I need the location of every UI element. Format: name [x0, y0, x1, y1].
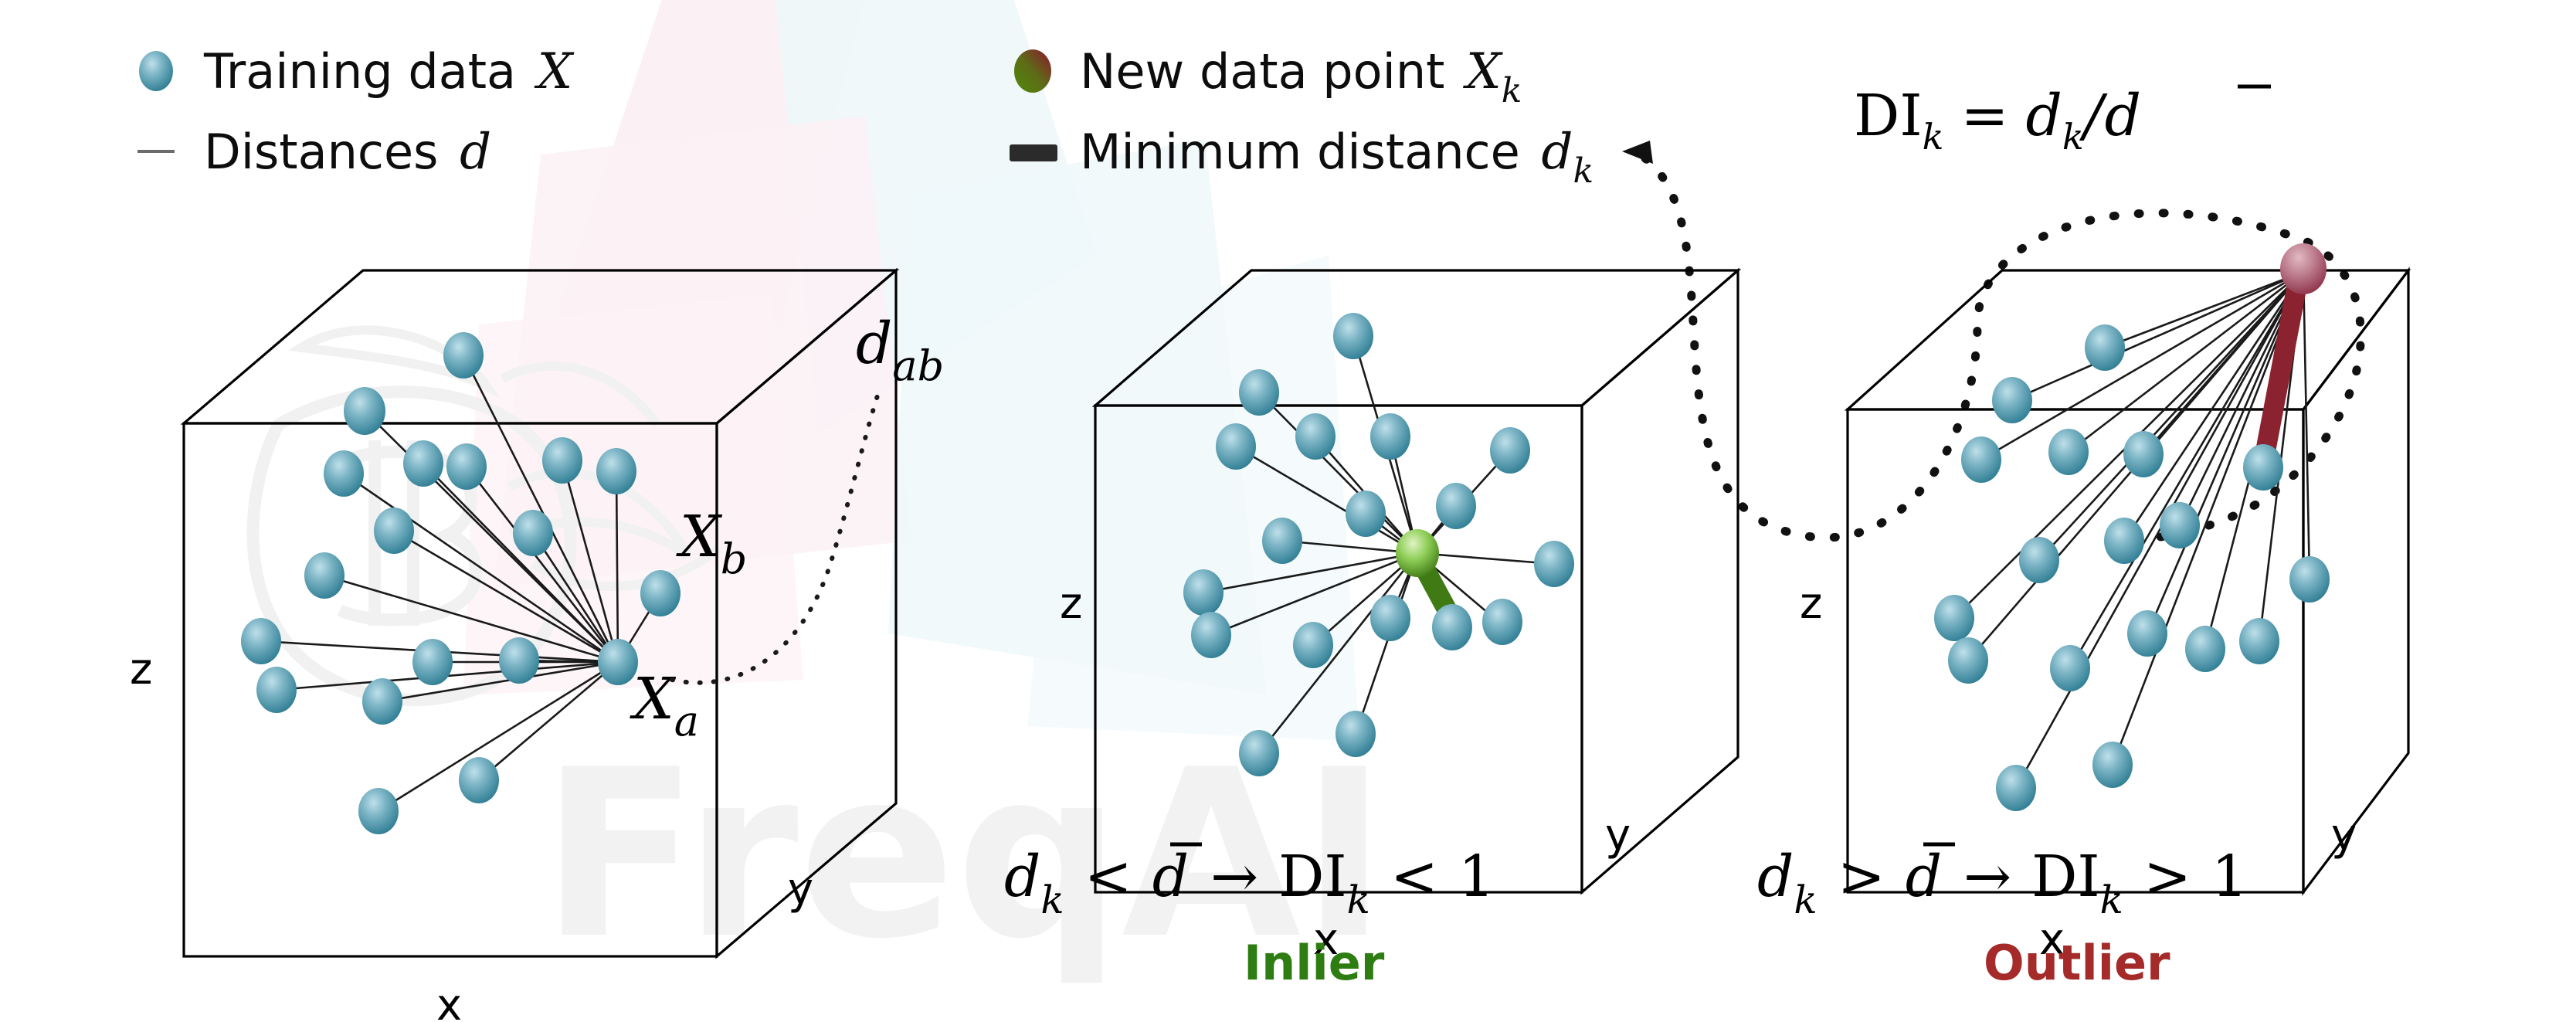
data-point — [1961, 436, 2001, 483]
new-data-point-Xk — [1396, 529, 1439, 577]
data-point-Xb — [640, 570, 680, 616]
axis-label-z: z — [1800, 579, 1822, 629]
data-point — [1239, 369, 1279, 416]
data-point — [1996, 765, 2036, 811]
data-point — [2185, 626, 2225, 672]
data-point — [1262, 518, 1302, 564]
data-point — [459, 757, 499, 803]
data-point — [446, 443, 487, 490]
data-point — [1239, 730, 1279, 776]
data-point — [304, 552, 344, 599]
data-point — [2048, 429, 2089, 475]
data-point — [1191, 612, 1231, 658]
data-point — [1183, 569, 1224, 616]
caption-outlier: dk>d→DIk>1 Outlier — [1757, 844, 2248, 991]
nearest-neighbour-point — [2243, 444, 2283, 491]
data-point — [324, 450, 364, 497]
data-point — [1534, 541, 1574, 587]
data-point — [2160, 502, 2200, 548]
data-point — [1216, 423, 1256, 470]
data-point — [2085, 324, 2125, 371]
data-point — [403, 440, 443, 487]
thick-bar-icon — [1010, 144, 1057, 161]
legend-label-distances: Distances d — [204, 124, 491, 181]
axis-label-y: y — [2331, 810, 2357, 861]
data-point — [596, 448, 636, 494]
axis-label-z: z — [130, 644, 152, 694]
data-point — [344, 387, 385, 435]
data-point — [2127, 610, 2167, 657]
sphere-teal-icon — [139, 51, 173, 91]
leader-arrowhead-icon — [1622, 141, 1653, 164]
data-point — [374, 508, 414, 554]
sphere-green-red-icon — [1014, 49, 1051, 93]
data-point — [1490, 427, 1530, 474]
data-point — [1370, 595, 1410, 641]
axis-label-x: x — [436, 980, 462, 1022]
data-point — [2289, 556, 2330, 603]
data-point — [412, 639, 453, 685]
data-point — [2239, 618, 2279, 664]
verdict-inlier: Inlier — [1244, 935, 1385, 991]
di-formula-text: DIk=dk/d — [1854, 83, 2141, 158]
data-point — [2123, 431, 2164, 477]
data-point — [542, 437, 582, 484]
data-point — [2019, 537, 2059, 583]
data-point — [2050, 645, 2090, 691]
data-point — [513, 510, 553, 556]
data-point — [1948, 637, 1988, 684]
focal-point-Xa — [598, 639, 638, 685]
data-point — [1295, 413, 1336, 460]
axis-label-z: z — [1060, 579, 1082, 629]
data-point — [256, 667, 297, 713]
data-point — [1992, 377, 2032, 423]
legend-label-new-data-point: New data point Xk — [1080, 43, 1522, 110]
legend-label-training-data: Training data X — [203, 43, 575, 100]
data-point — [1482, 599, 1522, 645]
figure-canvas: FreqAI Training data X Distances d New d… — [0, 0, 2576, 1022]
nearest-neighbour-point — [1432, 604, 1472, 650]
data-point — [2092, 742, 2133, 788]
di-formula-annotation: DIk=dk/d — [1854, 83, 2271, 158]
data-point — [443, 332, 484, 379]
data-point — [241, 618, 281, 664]
legend-item-distances[interactable]: Distances d — [137, 124, 491, 181]
data-point — [1346, 491, 1386, 537]
legend-item-training-data[interactable]: Training data X — [139, 43, 575, 100]
verdict-outlier: Outlier — [1984, 935, 2170, 991]
legend-item-new-data-point[interactable]: New data point Xk — [1014, 43, 1522, 110]
data-point — [499, 637, 539, 684]
axis-label-y: y — [1605, 810, 1631, 861]
axis-label-y: y — [788, 864, 813, 915]
data-point — [1333, 313, 1373, 359]
data-point — [2104, 518, 2144, 564]
data-point — [1934, 595, 1974, 641]
data-point — [362, 678, 402, 725]
new-data-point-Xk — [2280, 243, 2327, 294]
data-point — [358, 788, 399, 834]
data-point — [1336, 711, 1376, 757]
caption-formula-outlier: dk>d→DIk>1 — [1757, 844, 2248, 922]
data-point — [1436, 483, 1476, 529]
panel-outlier: z x y — [1800, 243, 2408, 965]
data-point — [1293, 622, 1333, 668]
data-point — [1370, 413, 1410, 460]
